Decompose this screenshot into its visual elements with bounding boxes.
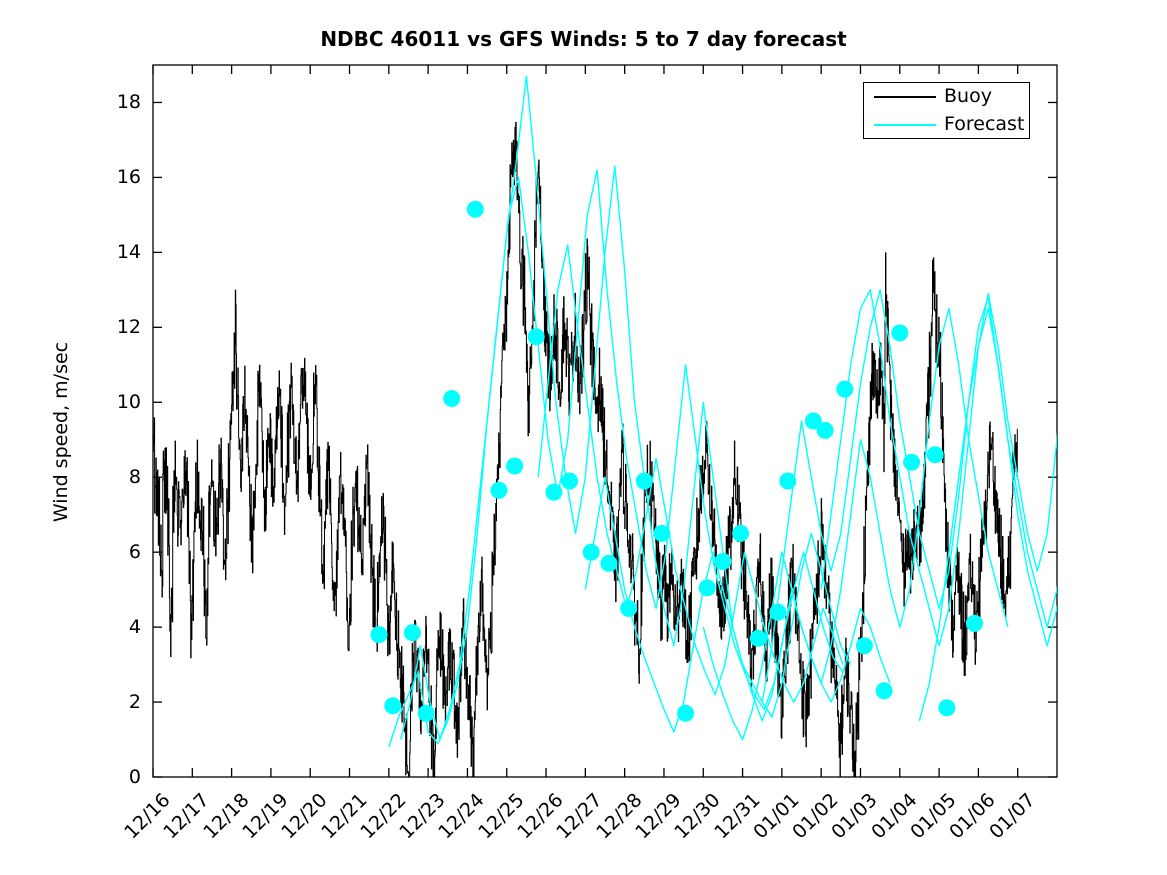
forecast-marker <box>561 473 578 490</box>
forecast-marker <box>750 630 767 647</box>
forecast-marker <box>927 446 944 463</box>
y-tick-label: 14 <box>101 241 141 263</box>
legend-entry-forecast: Forecast <box>864 111 1031 139</box>
y-tick-label: 18 <box>101 91 141 113</box>
y-tick-label: 6 <box>101 541 141 563</box>
legend-entry-buoy: Buoy <box>864 83 1031 111</box>
forecast-marker <box>903 454 920 471</box>
y-tick-label: 10 <box>101 391 141 413</box>
forecast-marker <box>600 555 617 572</box>
forecast-marker <box>732 525 749 542</box>
legend-label-buoy: Buoy <box>944 85 992 107</box>
forecast-marker <box>779 473 796 490</box>
forecast-marker <box>769 604 786 621</box>
y-tick-label: 8 <box>101 466 141 488</box>
forecast-series-line <box>703 309 1008 740</box>
forecast-marker <box>490 482 507 499</box>
forecast-marker <box>966 615 983 632</box>
legend-swatch-buoy <box>874 96 936 98</box>
y-tick-label: 12 <box>101 316 141 338</box>
forecast-marker <box>876 682 893 699</box>
forecast-marker <box>583 544 600 561</box>
legend: Buoy Forecast <box>863 82 1030 139</box>
forecast-marker <box>528 328 545 345</box>
legend-label-forecast: Forecast <box>944 113 1024 135</box>
forecast-marker <box>371 626 388 643</box>
forecast-marker <box>384 697 401 714</box>
forecast-marker <box>836 381 853 398</box>
y-tick-label: 0 <box>101 766 141 788</box>
y-tick-label: 4 <box>101 616 141 638</box>
forecast-marker <box>467 201 484 218</box>
forecast-marker <box>620 600 637 617</box>
forecast-marker <box>506 458 523 475</box>
forecast-marker <box>938 699 955 716</box>
forecast-marker <box>817 422 834 439</box>
forecast-marker <box>856 637 873 654</box>
forecast-marker <box>677 705 694 722</box>
forecast-marker <box>699 579 716 596</box>
forecast-marker <box>714 553 731 570</box>
y-tick-label: 16 <box>101 166 141 188</box>
forecast-marker <box>636 473 653 490</box>
forecast-marker <box>404 624 421 641</box>
forecast-marker <box>545 484 562 501</box>
forecast-marker <box>443 390 460 407</box>
legend-swatch-forecast <box>874 124 936 126</box>
forecast-marker <box>654 525 671 542</box>
chart-figure: NDBC 46011 vs GFS Winds: 5 to 7 day fore… <box>0 0 1167 875</box>
y-tick-label: 2 <box>101 691 141 713</box>
forecast-marker <box>891 324 908 341</box>
forecast-marker <box>418 705 435 722</box>
